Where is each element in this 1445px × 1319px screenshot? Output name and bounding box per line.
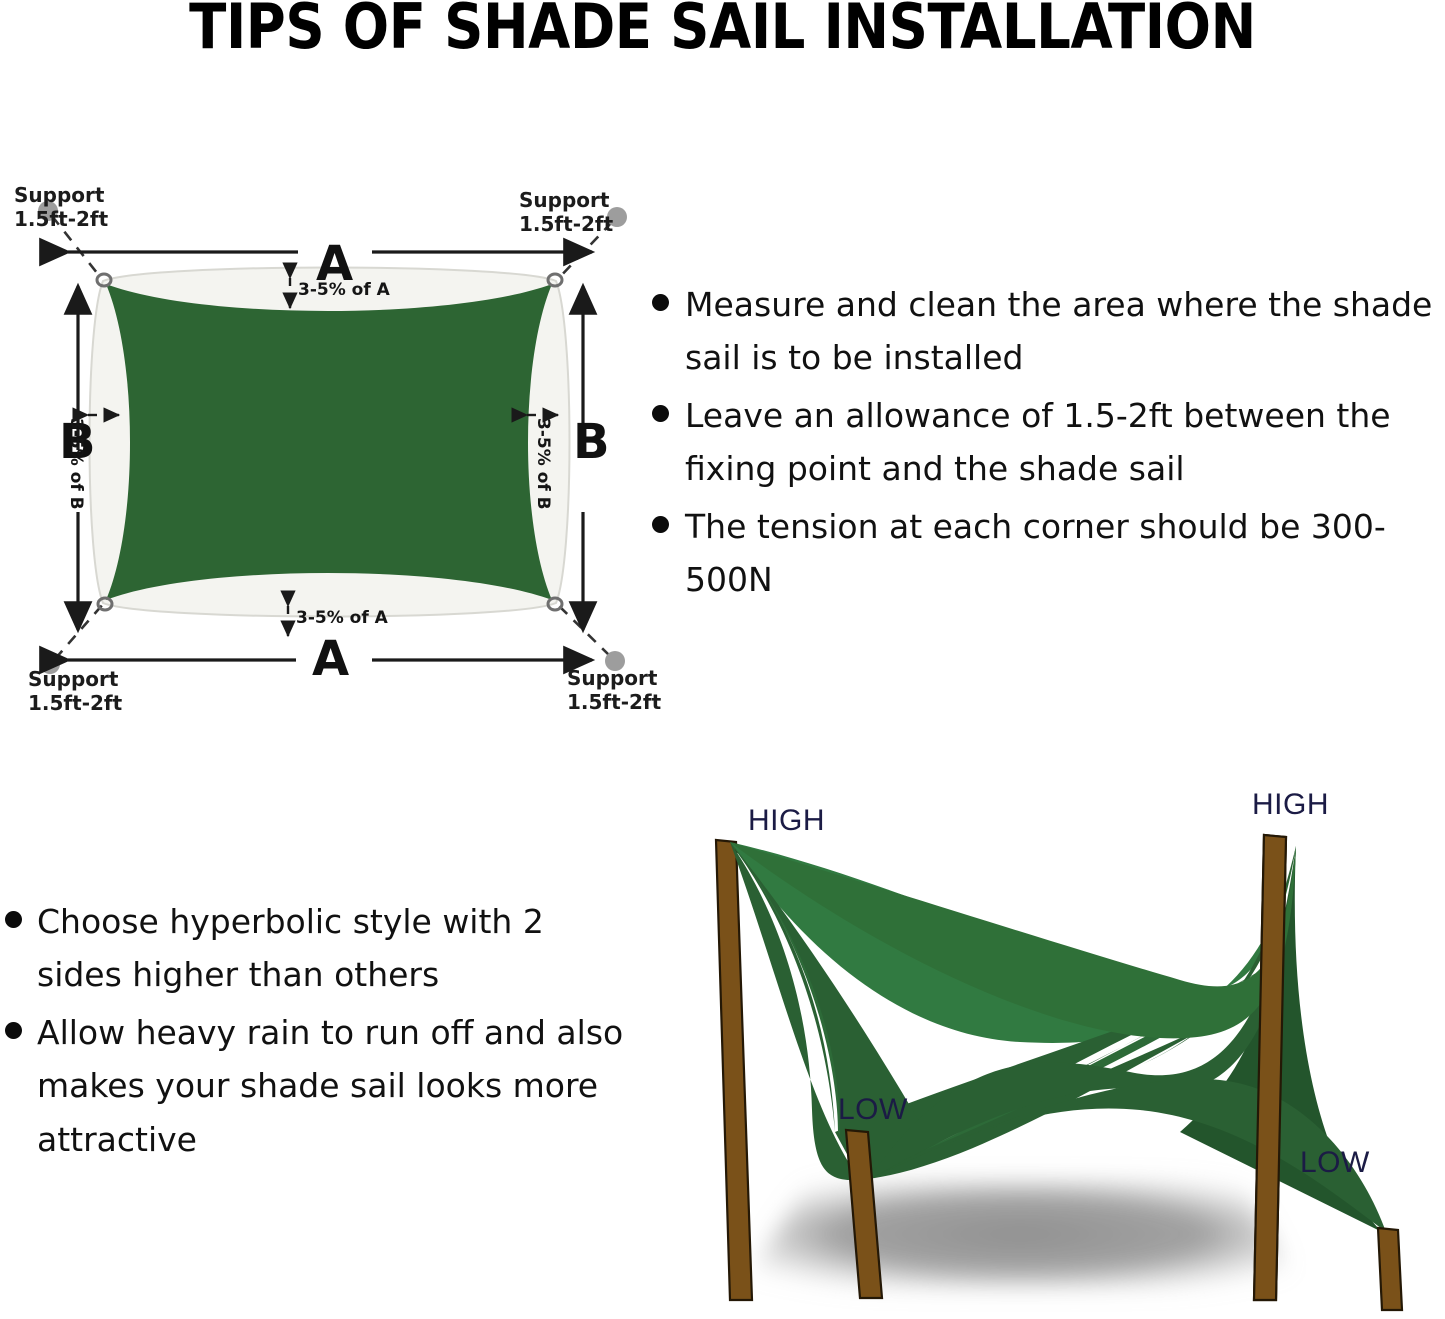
curvature-label-b-left: 3-5% of B <box>67 418 84 510</box>
tip-text: Choose hyperbolic style with 2 sides hig… <box>37 895 625 1002</box>
support-label-line2: 1.5ft-2ft <box>519 213 613 237</box>
rectangular-sail-diagram: Support 1.5ft-2ft Support 1.5ft-2ft Supp… <box>0 160 640 730</box>
tip-text: Leave an allowance of 1.5-2ft between th… <box>685 389 1445 496</box>
label-low-left: LOW <box>838 1095 908 1125</box>
ground-shadow <box>740 1180 1300 1288</box>
list-item: Choose hyperbolic style with 2 sides hig… <box>5 895 625 1002</box>
tips-list-right: Measure and clean the area where the sha… <box>652 278 1445 611</box>
dimension-label-a-bottom: A <box>312 635 349 683</box>
curvature-label-a-top: 3-5% of A <box>298 282 390 299</box>
hyperbolic-sail-diagram: HIGH HIGH LOW LOW <box>660 780 1445 1319</box>
curvature-label-b-right: 3-5% of B <box>534 418 551 510</box>
support-label-bottom-left: Support 1.5ft-2ft <box>28 668 122 715</box>
support-post-right-high-overlay <box>1254 835 1286 1300</box>
tips-list-left: Choose hyperbolic style with 2 sides hig… <box>5 895 625 1170</box>
tip-text: Allow heavy rain to run off and also mak… <box>37 1006 625 1166</box>
support-label-line1: Support <box>567 667 661 691</box>
dimension-label-b-right: B <box>573 418 610 466</box>
curvature-label-a-bottom: 3-5% of A <box>296 610 388 627</box>
support-label-top-left: Support 1.5ft-2ft <box>14 184 108 231</box>
bullet-dot-icon <box>5 911 22 928</box>
bullet-dot-icon <box>652 516 669 533</box>
support-label-line1: Support <box>14 184 108 208</box>
list-item: Allow heavy rain to run off and also mak… <box>5 1006 625 1166</box>
list-item: Leave an allowance of 1.5-2ft between th… <box>652 389 1445 496</box>
support-label-line2: 1.5ft-2ft <box>567 691 661 715</box>
support-label-line2: 1.5ft-2ft <box>14 208 108 232</box>
label-high-left: HIGH <box>748 806 825 836</box>
hyperbolic-diagram-graphics <box>660 780 1445 1319</box>
tip-text: The tension at each corner should be 300… <box>685 500 1445 607</box>
support-label-line1: Support <box>28 668 122 692</box>
page-title: TIPS OF SHADE SAIL INSTALLATION <box>87 0 1359 59</box>
support-label-line1: Support <box>519 189 613 213</box>
support-label-line2: 1.5ft-2ft <box>28 692 122 716</box>
label-high-right: HIGH <box>1252 790 1329 820</box>
label-low-right: LOW <box>1300 1148 1370 1178</box>
hyperbolic-sail-shape <box>730 842 1386 1232</box>
list-item: The tension at each corner should be 300… <box>652 500 1445 607</box>
list-item: Measure and clean the area where the sha… <box>652 278 1445 385</box>
bullet-dot-icon <box>5 1022 22 1039</box>
bullet-dot-icon <box>652 405 669 422</box>
bullet-dot-icon <box>652 294 669 311</box>
support-label-top-right: Support 1.5ft-2ft <box>519 189 613 236</box>
sail-shape <box>90 268 570 617</box>
tip-text: Measure and clean the area where the sha… <box>685 278 1445 385</box>
support-label-bottom-right: Support 1.5ft-2ft <box>567 667 661 714</box>
